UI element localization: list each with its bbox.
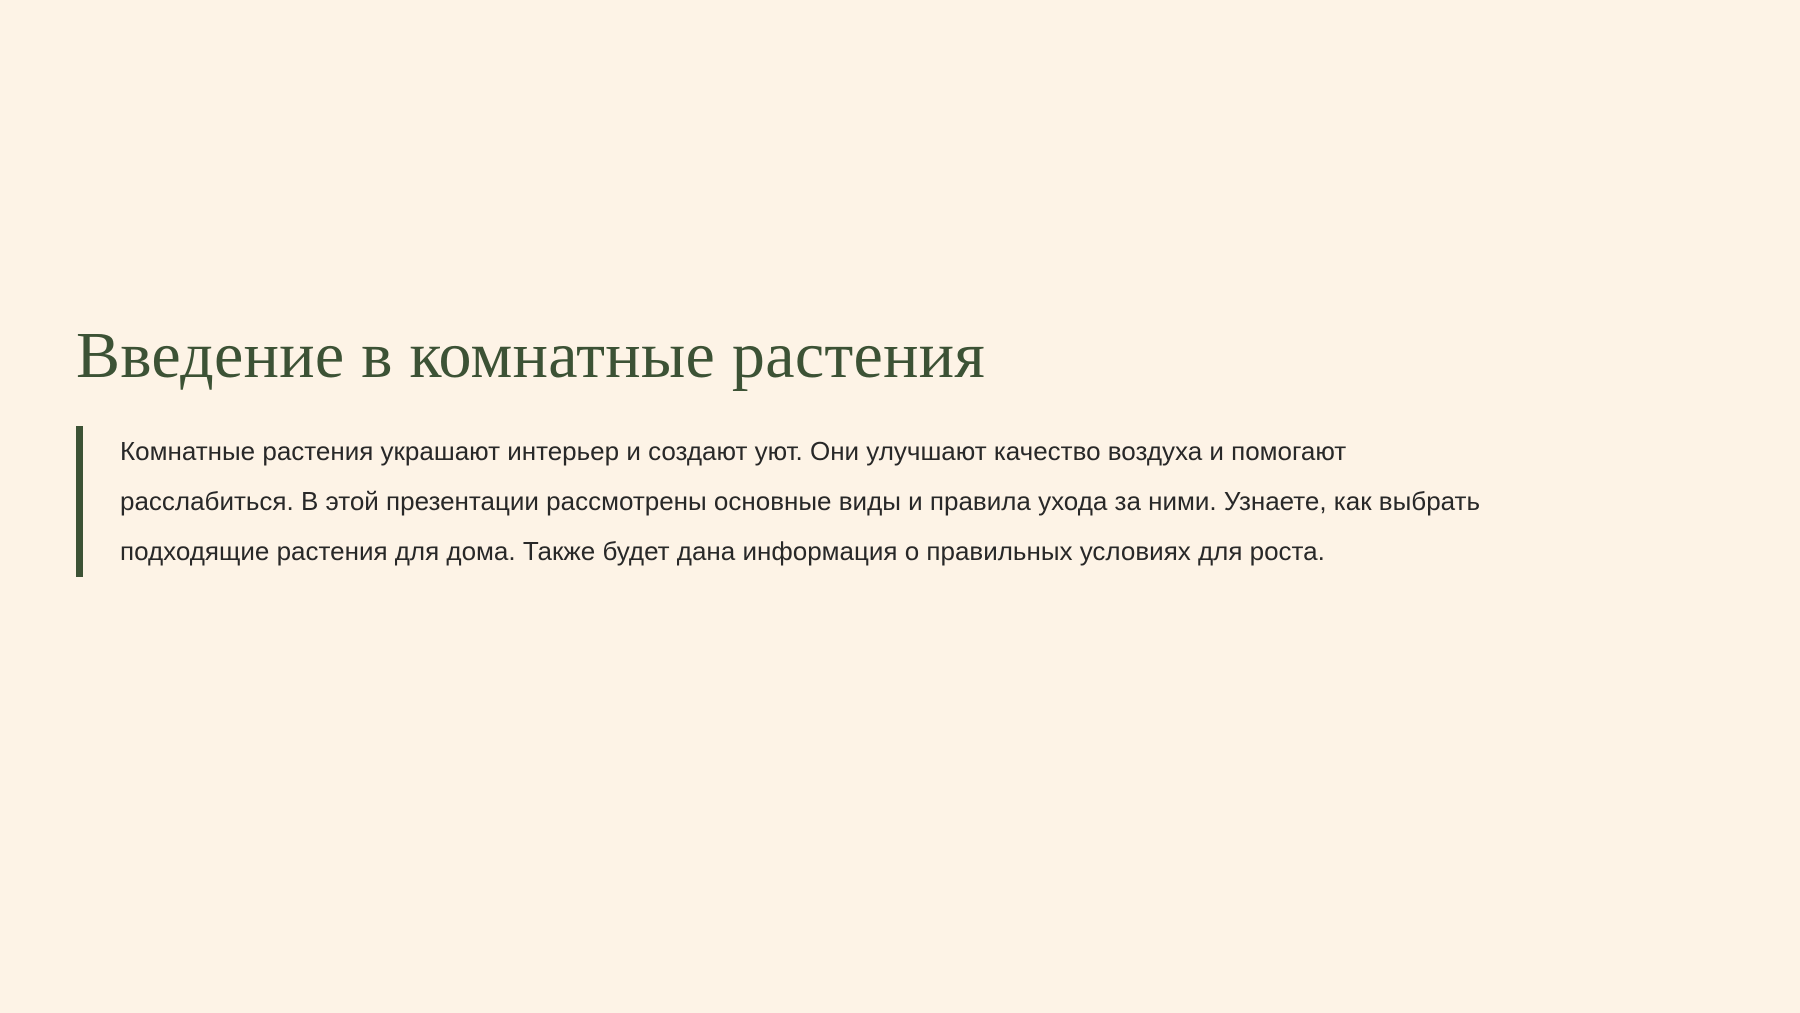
intro-paragraph: Комнатные растения украшают интерьер и с… xyxy=(120,426,1526,576)
page-title: Введение в комнатные растения xyxy=(76,318,1756,393)
slide-canvas: Введение в комнатные растения Комнатные … xyxy=(0,0,1800,1013)
accent-bar xyxy=(76,426,83,577)
slide-content: Введение в комнатные растения Комнатные … xyxy=(76,318,1756,577)
intro-callout: Комнатные растения украшают интерьер и с… xyxy=(76,426,1756,577)
